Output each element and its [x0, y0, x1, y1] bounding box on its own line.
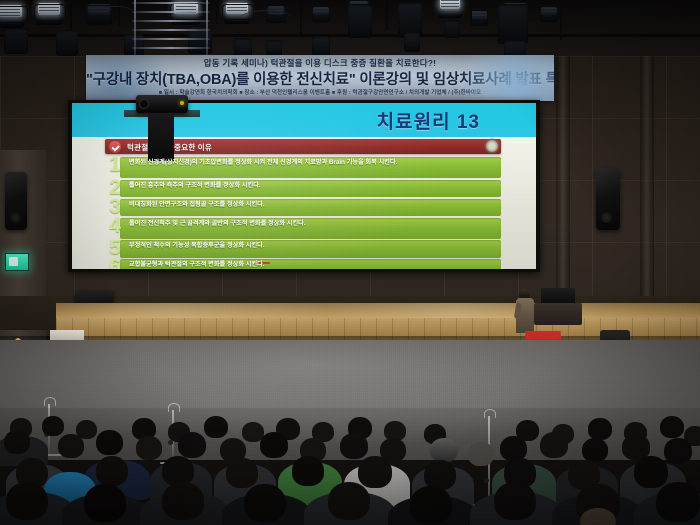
- list-item-text: 틀어진 흉추와 측추의 구조적 변화를 정상화 시킨다.: [129, 182, 496, 190]
- audience-head: [96, 456, 128, 486]
- list-item-text: 틀어진 전신척추 및 근 골격계와 골반의 구조적 변화를 정상화 시킨다.: [129, 220, 496, 228]
- stage-spotlight: [470, 10, 488, 26]
- ceiling-projector: [136, 95, 188, 113]
- audience-head-cap: [430, 438, 458, 462]
- audience-head: [660, 416, 684, 438]
- audience-head: [340, 433, 368, 459]
- list-item: 5 부정적인 척수의 기능성 복합증후군을 정상화 시킨다.: [105, 240, 501, 257]
- projector-led-icon: [180, 101, 184, 105]
- ceiling-truss-area: [0, 0, 700, 62]
- audience-head: [58, 434, 84, 458]
- projector-lens-icon: [140, 100, 148, 108]
- list-item: 3 비대칭화된 안면구조와 접형골 구조를 정상화 시킨다.: [105, 199, 501, 216]
- hanging-cable: [70, 0, 72, 30]
- audience-head: [178, 432, 206, 458]
- stage-spotlight: [404, 32, 420, 52]
- stage-spotlight: [4, 28, 28, 54]
- stage-spotlight: [438, 0, 462, 18]
- slide-body: 턱관절 치료가 중요한 이유 1 변화된 신경계(상지신경)의 기초압변화를 정…: [72, 137, 536, 269]
- stage-spotlight: [498, 4, 528, 44]
- stage-spotlight: [312, 6, 330, 22]
- audience-head: [468, 442, 494, 466]
- list-item-number: 6: [105, 256, 125, 269]
- audience-head: [162, 482, 204, 520]
- stage-spotlight: [348, 4, 372, 38]
- audience-head: [656, 482, 700, 522]
- audience-head: [226, 458, 258, 488]
- audience-head: [634, 456, 668, 488]
- wall-pilaster: [640, 56, 654, 336]
- list-item-text: 부정적인 척수의 기능성 복합증후군을 정상화 시킨다.: [129, 242, 496, 250]
- list-item: 1 변화된 신경계(상지신경)의 기초압변화를 정상화 시켜 전체 신경계의 치…: [105, 157, 501, 178]
- projection-screen: 치료원리 13 턱관절 치료가 중요한 이유 1 변화된 신경계(상지신경)의 …: [68, 100, 540, 272]
- stage-side-table: [534, 303, 582, 325]
- list-item-number: 1: [105, 154, 125, 176]
- hanging-cable: [386, 0, 388, 30]
- stage-spotlight: [56, 30, 78, 56]
- hanging-cable: [560, 0, 562, 40]
- hanging-cable: [240, 10, 292, 27]
- stage-spotlight: [444, 20, 460, 38]
- hanging-cable: [216, 0, 218, 24]
- audience-seating: [0, 408, 700, 525]
- presenter: [516, 289, 534, 333]
- audience-head: [582, 438, 608, 462]
- stage-spotlight: [312, 36, 330, 56]
- stage-spotlight: [36, 2, 62, 25]
- wall-mounted-speaker: [596, 168, 620, 230]
- gear-icon: [486, 140, 498, 152]
- audience-head: [328, 482, 370, 520]
- audience-head: [96, 430, 123, 455]
- audience-head: [4, 430, 30, 454]
- audience-head: [494, 482, 536, 520]
- exit-sign: [5, 253, 29, 271]
- list-item: 4 틀어진 전신척추 및 근 골격계와 골반의 구조적 변화를 정상화 시킨다.: [105, 218, 501, 239]
- hanging-cable: [92, 6, 138, 25]
- audience-head: [204, 416, 228, 438]
- projector-stand: [148, 113, 174, 161]
- audience-head: [136, 436, 162, 460]
- audience-head: [410, 486, 452, 524]
- hanging-cable: [470, 0, 472, 22]
- audience-head: [260, 432, 288, 458]
- wall-mounted-speaker: [5, 172, 27, 230]
- hanging-cable: [300, 0, 302, 34]
- audience-head: [540, 432, 568, 458]
- audience-head: [84, 484, 126, 522]
- stage-spotlight: [0, 4, 24, 28]
- stage-spotlight: [540, 6, 558, 22]
- list-item-text: 변화된 신경계(상지신경)의 기초압변화를 정상화 시켜 전체 신경계의 치료망…: [129, 159, 496, 167]
- list-item: 2 틀어진 흉추와 측추의 구조적 변화를 정상화 시킨다.: [105, 180, 501, 197]
- list-item-number: 4: [105, 215, 125, 237]
- audience-head: [588, 418, 612, 440]
- audience-head: [664, 438, 692, 464]
- presentation-slide: 치료원리 13 턱관절 치료가 중요한 이유 1 변화된 신경계(상지신경)의 …: [72, 103, 536, 269]
- list-item: 6 교합불균형과 턱관절의 구조적 변화를 정상화 시킨다.: [105, 259, 501, 269]
- check-circle-icon: [109, 141, 121, 153]
- audience-head: [292, 456, 324, 486]
- slide-item-list: 1 변화된 신경계(상지신경)의 기초압변화를 정상화 시켜 전체 신경계의 치…: [105, 157, 501, 269]
- audience-head: [244, 484, 286, 522]
- audience-head: [42, 416, 64, 436]
- audience-head: [6, 482, 48, 520]
- list-item-text: 교합불균형과 턱관절의 구조적 변화를 정상화 시킨다.: [129, 261, 496, 269]
- slide-title: 치료원리 13: [377, 107, 480, 134]
- list-item-text: 비대칭화된 안면구조와 접형골 구조를 정상화 시킨다.: [129, 201, 496, 209]
- audience-head: [358, 456, 392, 488]
- lecture-hall-photo: 압동 기록 세미나) 턱관절을 이용 디스크 중증 질환을 치료한다?! "구강…: [0, 0, 700, 525]
